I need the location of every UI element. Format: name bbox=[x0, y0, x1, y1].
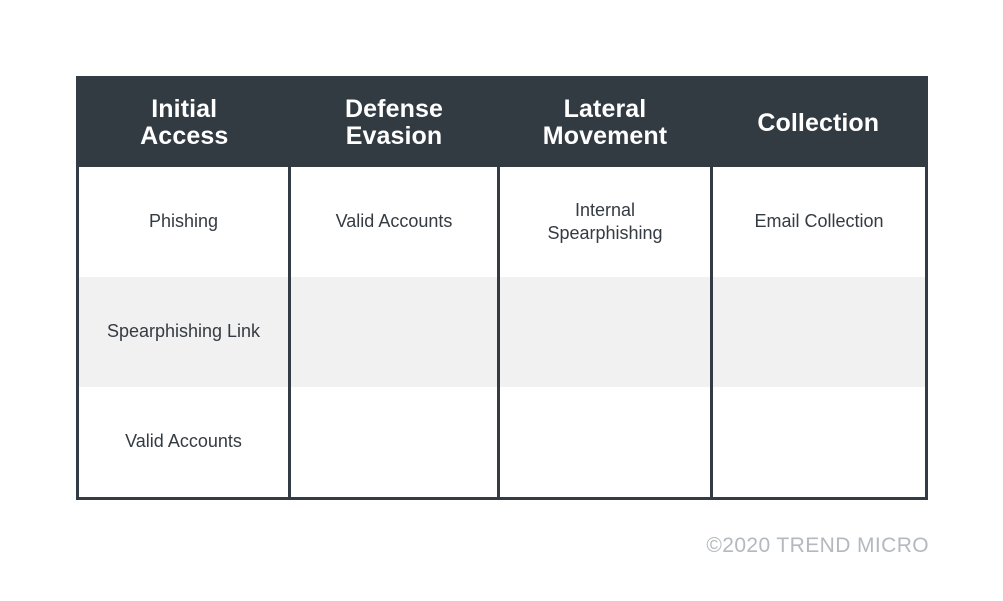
table-cell: Valid Accounts bbox=[78, 387, 290, 499]
column-header-label: Lateral Movement bbox=[499, 96, 712, 150]
table-cell bbox=[712, 387, 927, 499]
column-header-collection: Collection bbox=[712, 78, 927, 168]
column-header-initial-access: Initial Access bbox=[78, 78, 290, 168]
table-cell: Spearphishing Link bbox=[78, 277, 290, 387]
column-header-label: Collection bbox=[712, 110, 926, 137]
column-header-defense-evasion: Defense Evasion bbox=[290, 78, 499, 168]
table-header: Initial Access Defense Evasion Lateral M… bbox=[78, 78, 927, 168]
table-row: Phishing Valid Accounts Internal Spearph… bbox=[78, 167, 927, 277]
cell-text: Valid Accounts bbox=[85, 430, 282, 453]
table-cell bbox=[499, 277, 712, 387]
cell-text: Email Collection bbox=[719, 210, 919, 233]
table-body: Phishing Valid Accounts Internal Spearph… bbox=[78, 167, 927, 499]
cell-text: Internal Spearphishing bbox=[506, 199, 704, 245]
column-header-label: Initial Access bbox=[79, 96, 290, 150]
table-cell: Internal Spearphishing bbox=[499, 167, 712, 277]
table-cell bbox=[712, 277, 927, 387]
table-cell bbox=[290, 277, 499, 387]
copyright-notice: ©2020 TREND MICRO bbox=[706, 534, 929, 558]
column-header-label: Defense Evasion bbox=[290, 96, 499, 150]
table-cell bbox=[499, 387, 712, 499]
cell-text: Phishing bbox=[85, 210, 282, 233]
header-row: Initial Access Defense Evasion Lateral M… bbox=[78, 78, 927, 168]
table-row: Spearphishing Link bbox=[78, 277, 927, 387]
table-cell bbox=[290, 387, 499, 499]
cell-text: Valid Accounts bbox=[297, 210, 491, 233]
table-row: Valid Accounts bbox=[78, 387, 927, 499]
table-cell: Valid Accounts bbox=[290, 167, 499, 277]
attack-technique-matrix: Initial Access Defense Evasion Lateral M… bbox=[76, 76, 928, 500]
cell-text: Spearphishing Link bbox=[85, 320, 282, 343]
table-cell: Phishing bbox=[78, 167, 290, 277]
column-header-lateral-movement: Lateral Movement bbox=[499, 78, 712, 168]
attack-matrix-figure: Initial Access Defense Evasion Lateral M… bbox=[0, 0, 1003, 601]
table-cell: Email Collection bbox=[712, 167, 927, 277]
